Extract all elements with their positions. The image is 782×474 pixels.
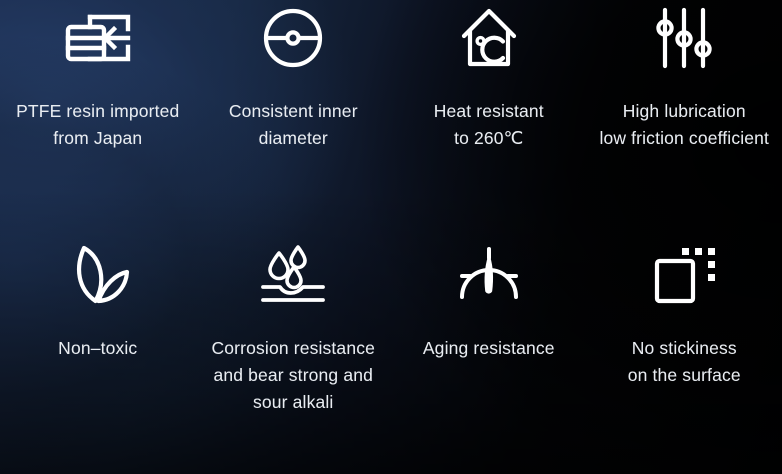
feature-caption: Heat resistant to 260℃: [434, 98, 544, 152]
feature-item-no-stickiness: No stickiness on the surface: [587, 237, 782, 474]
feature-item-consistent-inner-diameter: Consistent inner diameter: [196, 0, 392, 237]
feature-item-aging-resistance: Aging resistance: [391, 237, 587, 474]
inner-diameter-icon: [259, 0, 327, 76]
feature-caption: Consistent inner diameter: [229, 98, 358, 152]
feature-caption: Corrosion resistance and bear strong and…: [212, 335, 375, 416]
feature-caption: Non–toxic: [58, 335, 137, 362]
feature-caption: Aging resistance: [423, 335, 555, 362]
feature-board: PTFE resin imported from Japan Consisten…: [0, 0, 782, 474]
feature-caption: No stickiness on the surface: [628, 335, 741, 389]
database-import-icon: [62, 0, 134, 76]
non-stick-surface-icon: [652, 237, 716, 313]
feature-item-heat-resistant: Heat resistant to 260℃: [391, 0, 587, 237]
feature-item-non-toxic: Non–toxic: [0, 237, 196, 474]
house-temperature-icon: [455, 0, 523, 76]
feature-caption: High lubrication low friction coefficien…: [599, 98, 769, 152]
feature-item-ptfe-resin-imported: PTFE resin imported from Japan: [0, 0, 196, 237]
feature-caption: PTFE resin imported from Japan: [16, 98, 179, 152]
water-drops-surface-icon: [258, 237, 328, 313]
gauge-icon: [455, 237, 523, 313]
sliders-icon: [652, 0, 716, 76]
leaves-icon: [64, 237, 132, 313]
feature-item-corrosion-resistance: Corrosion resistance and bear strong and…: [196, 237, 392, 474]
feature-item-high-lubrication: High lubrication low friction coefficien…: [587, 0, 782, 237]
feature-grid: PTFE resin imported from Japan Consisten…: [0, 0, 782, 474]
